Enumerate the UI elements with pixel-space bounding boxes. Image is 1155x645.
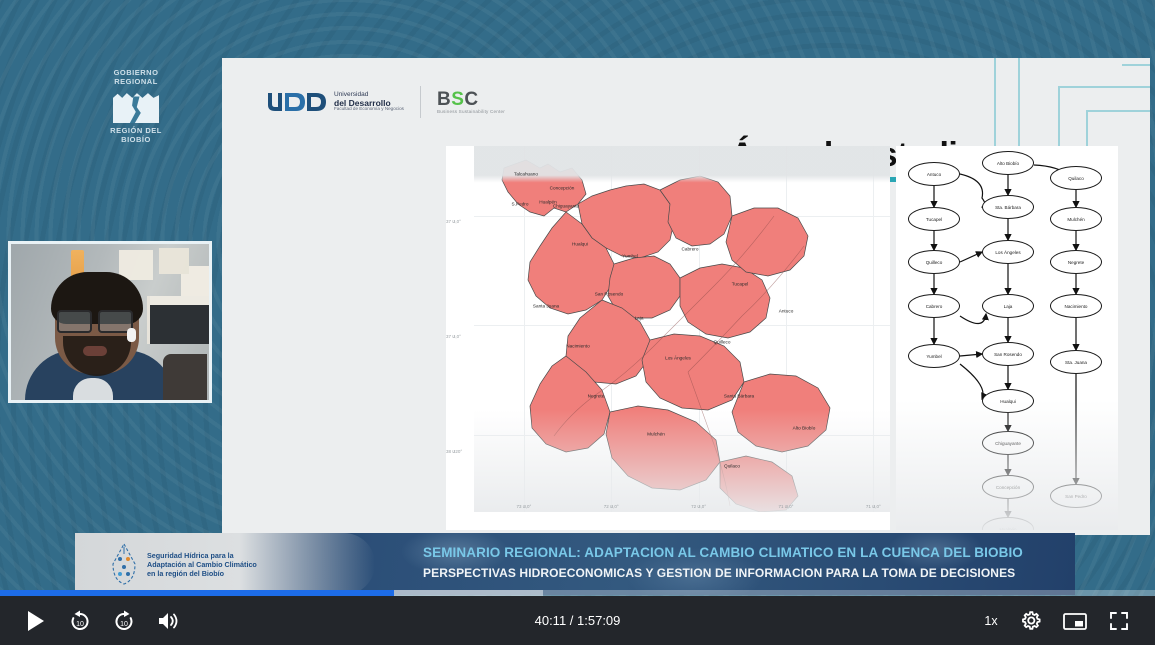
gore-logo-bottom-text: REGIÓN DEL BIOBÍO	[105, 126, 167, 144]
banner-subtitle: PERSPECTIVAS HIDROECONOMICAS Y GESTION D…	[423, 566, 1143, 580]
map-x-tick: 71 ଓ,0°	[866, 504, 881, 509]
map-label: Yumbel	[622, 254, 638, 259]
network-node: Sta. Bárbara	[982, 195, 1034, 219]
map-x-tick: 73 ଓ,0°	[516, 504, 531, 509]
fullscreen-icon	[1108, 610, 1130, 632]
bsc-logo: BSC Business Sustainability Center	[437, 90, 505, 115]
org-line-2: Adaptación al Cambio Climático	[147, 560, 257, 569]
map-y-tick: 37 ଓ,0°	[446, 219, 461, 224]
network-node: Tucapel	[908, 207, 960, 231]
water-drop-icon	[109, 542, 139, 586]
map-y-tick: 37 ଓ,0°	[446, 334, 461, 339]
svg-text:10: 10	[120, 621, 128, 628]
picture-in-picture-button[interactable]	[1053, 599, 1097, 643]
banner-title: SEMINARIO REGIONAL: ADAPTACION AL CAMBIO…	[423, 545, 1063, 560]
forward-10-button[interactable]: 10	[102, 599, 146, 643]
map-label: Santa Juana	[533, 304, 559, 309]
network-node: Los Ángeles	[982, 240, 1034, 264]
map-label: San Rosendo	[595, 292, 623, 297]
seminar-banner: Seguridad Hídrica para la Adaptación al …	[75, 533, 1075, 595]
forward-10-icon: 10	[113, 610, 135, 632]
banner-org-text: Seguridad Hídrica para la Adaptación al …	[147, 551, 257, 578]
network-node: Concepción	[982, 475, 1034, 499]
rewind-10-button[interactable]: 10	[58, 599, 102, 643]
map-x-tick: 72 ଓ,0°	[604, 504, 619, 509]
network-node: Hualqui	[982, 389, 1034, 413]
player-controls: 10 10 40:11 / 1:57:09 1x	[0, 596, 1155, 645]
map-overlay-shade	[474, 146, 890, 512]
network-node: Laja	[982, 294, 1034, 318]
fullscreen-button[interactable]	[1097, 599, 1141, 643]
org-line-1: Seguridad Hídrica para la	[147, 551, 257, 560]
map-label: Talcahuano	[514, 172, 538, 177]
network-node: Sta. Juana	[1050, 350, 1102, 374]
map-label: Mulchén	[647, 432, 665, 437]
logo-divider	[420, 86, 421, 118]
map-label: Tucapel	[732, 282, 749, 287]
map-label: Chiguayante	[553, 204, 579, 209]
settings-button[interactable]	[1009, 599, 1053, 643]
map-label: Negrete	[588, 394, 605, 399]
network-node: Cabrero	[908, 294, 960, 318]
map-x-tick: 72 ଓ,0°	[691, 504, 706, 509]
network-node: Chiguayante	[982, 431, 1034, 455]
udd-logo-text: Universidad del Desarrollo Facultad de E…	[334, 92, 404, 113]
video-player-page: GOBIERNO REGIONAL REGIÓN DEL BIOBÍO	[0, 0, 1155, 645]
map-label: Antuco	[779, 309, 794, 314]
network-node: Nacimiento	[1050, 294, 1102, 318]
udd-logo: Universidad del Desarrollo Facultad de E…	[266, 91, 404, 113]
webcam-person-glasses	[57, 310, 133, 329]
map-label: Laja	[635, 316, 644, 321]
banner-org-block: Seguridad Hídrica para la Adaptación al …	[75, 533, 375, 595]
presenter-webcam	[8, 241, 212, 403]
map-label: Los Ángeles	[665, 356, 691, 361]
svg-text:10: 10	[76, 621, 84, 628]
map-label: Quilleco	[714, 340, 731, 345]
network-node: San Pedro	[1050, 484, 1102, 508]
presentation-slide: Universidad del Desarrollo Facultad de E…	[222, 58, 1150, 535]
gear-icon	[1019, 609, 1043, 633]
map-x-tick: 71 ଓ,0°	[779, 504, 794, 509]
network-node: Alto Biobío	[982, 151, 1034, 175]
study-area-map: TalcahuanoConcepciónS.PedroHualpénChigua…	[446, 146, 890, 530]
map-label: Concepción	[550, 186, 575, 191]
replay-10-icon: 10	[69, 610, 91, 632]
timecode-display: 40:11 / 1:57:09	[535, 613, 621, 628]
gobierno-regional-logo: GOBIERNO REGIONAL REGIÓN DEL BIOBÍO	[105, 62, 167, 150]
map-label: Quilaco	[724, 464, 740, 469]
map-label: Hualqui	[572, 242, 588, 247]
network-node: Negrete	[1050, 250, 1102, 274]
play-icon	[26, 610, 46, 632]
slide-logos: Universidad del Desarrollo Facultad de E…	[266, 86, 505, 118]
network-node: San Rosendo	[982, 342, 1034, 366]
volume-icon	[156, 610, 180, 632]
bsc-name: BSC	[437, 90, 505, 110]
network-node: Yumbel	[908, 344, 960, 368]
org-line-3: en la región del Biobío	[147, 569, 257, 578]
network-node: Quilaco	[1050, 166, 1102, 190]
webcam-person-mouth	[83, 346, 107, 356]
map-y-tick: 38 ଓ20°	[446, 449, 462, 454]
network-node: Antuco	[908, 162, 960, 186]
webcam-window-blind	[147, 296, 209, 344]
webcam-person-earbud	[127, 328, 136, 342]
map-label: Nacimiento	[566, 344, 589, 349]
bsc-sub: Business Sustainability Center	[437, 110, 505, 115]
udd-mark-icon	[266, 91, 328, 113]
node-network-diagram: AntucoAlto BiobíoQuilacoTucapelSta. Bárb…	[896, 146, 1118, 530]
map-label: Cabrero	[682, 247, 699, 252]
network-node: Quilleco	[908, 250, 960, 274]
udd-line3: Facultad de Economía y Negocios	[334, 107, 404, 112]
gore-logo-top-text: GOBIERNO REGIONAL	[105, 68, 167, 86]
volume-button[interactable]	[146, 599, 190, 643]
map-label: Santa Bárbara	[724, 394, 754, 399]
network-node: Mulchén	[1050, 207, 1102, 231]
playback-speed-button[interactable]: 1x	[973, 614, 1009, 628]
map-label: Alto Biobío	[793, 426, 816, 431]
map-label: S.Pedro	[512, 202, 529, 207]
map-plot-area: TalcahuanoConcepciónS.PedroHualpénChigua…	[474, 146, 890, 512]
picture-in-picture-icon	[1062, 610, 1088, 632]
webcam-chair	[163, 354, 207, 400]
gore-river-icon	[113, 89, 159, 123]
play-button[interactable]	[14, 599, 58, 643]
